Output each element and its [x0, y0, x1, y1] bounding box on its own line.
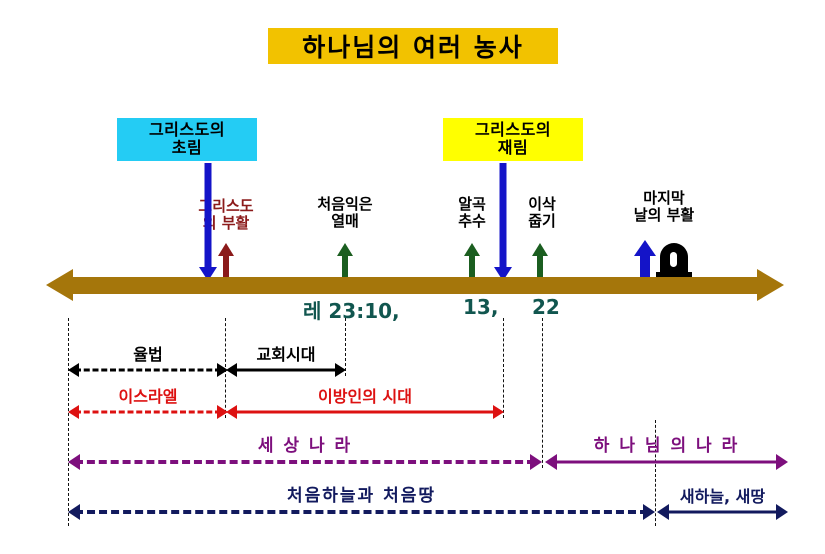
- span-church-age-label: 교회시대: [226, 347, 346, 363]
- marker-label-gleaning-line2: 줍기: [508, 213, 576, 230]
- marker-label-gleaning-line1: 이삭: [508, 196, 576, 213]
- marker-label-last-day-resurrection: 마지막 날의 부활: [604, 190, 724, 223]
- marker-label-firstfruits-line1: 처음익은: [297, 196, 393, 213]
- marker-label-harvest-line2: 추수: [436, 213, 508, 230]
- event-box-second-coming-line2: 재림: [449, 139, 577, 157]
- timeline-arrow-right: [757, 269, 784, 301]
- tombstone-opening-icon: [670, 252, 677, 267]
- span-israel-label: 이스라엘: [68, 389, 228, 405]
- span-age-of-gentiles-label: 이방인의 시대: [226, 389, 504, 405]
- marker-label-resurrection-line2: 의 부활: [178, 215, 274, 232]
- scripture-reference-2: 22: [532, 295, 560, 319]
- timeline-arrow-left: [46, 269, 73, 301]
- marker-label-grain-harvest: 알곡 추수: [436, 196, 508, 229]
- marker-label-lastday-line2: 날의 부활: [604, 207, 724, 224]
- guide-line-gleaning: [542, 318, 543, 468]
- span-world-kingdom-label: 세 상 나 라: [68, 438, 542, 455]
- event-box-first-coming-line1: 그리스도의: [123, 121, 251, 139]
- scripture-reference-0: 레 23:10,: [303, 295, 400, 324]
- event-box-second-coming-line1: 그리스도의: [449, 121, 577, 139]
- marker-label-harvest-line1: 알곡: [436, 196, 508, 213]
- span-kingdom-of-god-label: 하 나 님 의 나 라: [545, 438, 788, 455]
- diagram-canvas: 하나님의 여러 농사 그리스도의 초림 그리스도의 재림 그리스도 의 부활 처…: [0, 0, 825, 554]
- event-box-first-coming-line2: 초림: [123, 139, 251, 157]
- span-law-label: 율법: [68, 347, 228, 363]
- span-new-heaven-new-earth-label: 새하늘, 새땅: [657, 489, 788, 505]
- timeline-bar: [72, 277, 758, 294]
- page-title: 하나님의 여러 농사: [302, 28, 523, 64]
- marker-label-resurrection-of-christ: 그리스도 의 부활: [178, 198, 274, 231]
- marker-label-firstfruits-line2: 열매: [297, 213, 393, 230]
- event-box-second-coming: 그리스도의 재림: [443, 118, 583, 161]
- title-banner: 하나님의 여러 농사: [268, 28, 558, 64]
- event-box-first-coming: 그리스도의 초림: [117, 118, 257, 161]
- marker-label-firstfruits: 처음익은 열매: [297, 196, 393, 229]
- scripture-reference-1: 13,: [463, 295, 498, 319]
- marker-label-gleaning: 이삭 줍기: [508, 196, 576, 229]
- span-first-heaven-first-earth-label: 처음하늘과 처음땅: [68, 488, 655, 505]
- marker-label-resurrection-line1: 그리스도: [178, 198, 274, 215]
- marker-label-lastday-line1: 마지막: [604, 190, 724, 207]
